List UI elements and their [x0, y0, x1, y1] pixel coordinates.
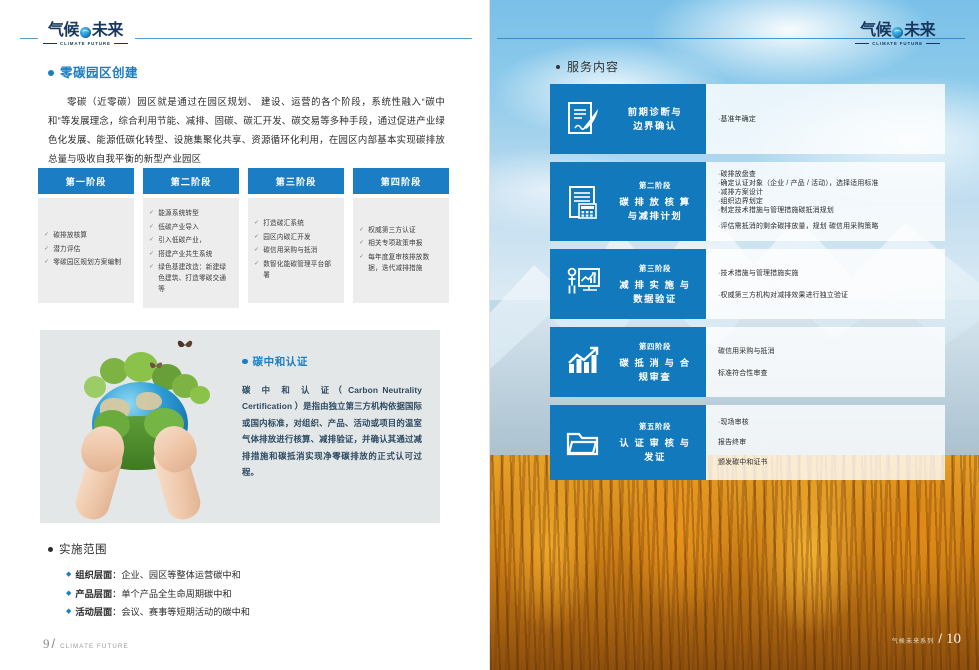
stage-item-text: 碳信用采购与抵消	[263, 245, 337, 256]
service-step-detail: 报告终审	[718, 436, 933, 449]
stage-item-text: 低碳产业导入	[158, 222, 232, 233]
scope-item-text: ：单个产品全生命周期碳中和	[112, 589, 231, 599]
service-step-3-labels: 第三阶段 减 排 实 施 与 数据验证	[614, 263, 696, 306]
stage-item: ✓潜力评估	[44, 244, 127, 255]
folder-icon	[560, 428, 606, 458]
scope-item-label: 产品层面	[75, 589, 112, 599]
stage-item-text: 搭建产业共生系统	[158, 249, 232, 260]
stage-body-3: ✓打造碳汇系统 ✓园区内碳汇开发 ✓碳信用采购与抵消 ✓数智化能碳管理平台部署	[248, 198, 344, 303]
service-step-5-details: ·现场审核 报告终审 颁发碳中和证书	[706, 405, 945, 480]
service-step-detail: ·组织边界划定	[718, 197, 933, 206]
footer-slash: /	[938, 631, 942, 646]
brand-logo: 气候 未来 CLIMATE FUTURE	[38, 22, 135, 46]
list-item: ◆产品层面：单个产品全生命周期碳中和	[66, 585, 436, 604]
stage-item: ✓能源系统转型	[149, 208, 232, 219]
butterfly-icon	[148, 360, 164, 372]
stage-item-text: 能源系统转型	[158, 208, 232, 219]
section-title-zero-carbon-park: 零碳园区创建	[48, 62, 138, 81]
service-step-5-stage: 第五阶段	[614, 421, 696, 432]
stage-column-3: 第三阶段 ✓打造碳汇系统 ✓园区内碳汇开发 ✓碳信用采购与抵消 ✓数智化能碳管理…	[248, 168, 344, 308]
stage-column-1: 第一阶段 ✓碳排放核算 ✓潜力评估 ✓零碳园区规划方案编制	[38, 168, 134, 308]
stage-header-1: 第一阶段	[38, 168, 134, 194]
service-step-4-name-line1: 碳 抵 消 与 合	[614, 356, 696, 370]
brochure-spread: 气候 未来 CLIMATE FUTURE 零碳园区创建 零碳（近零碳）园区就是通…	[0, 0, 979, 670]
stage-item: ✓搭建产业共生系统	[149, 249, 232, 260]
stage-item: ✓园区内碳汇开发	[254, 232, 337, 243]
illustration	[40, 330, 236, 523]
brand-logo-cn-2: 未来	[92, 22, 123, 40]
check-icon: ✓	[254, 259, 259, 281]
brand-logo-en: CLIMATE FUTURE	[60, 41, 111, 46]
left-page: 气候 未来 CLIMATE FUTURE 零碳园区创建 零碳（近零碳）园区就是通…	[0, 0, 490, 670]
stage-header-3: 第三阶段	[248, 168, 344, 194]
check-icon: ✓	[44, 257, 49, 268]
stage-item-text: 数智化能碳管理平台部署	[263, 259, 337, 281]
bullet-dot-icon	[556, 65, 560, 69]
service-step-2-stage: 第二阶段	[614, 180, 696, 191]
service-step-4: 第四阶段 碳 抵 消 与 合 规审查 碳信用采购与抵消 标准符合性审查	[550, 327, 945, 397]
stage-item-text: 碳排放核算	[53, 230, 127, 241]
service-step-1-details: ·基准年确定	[706, 84, 945, 154]
section-title-scope: 实施范围	[48, 541, 107, 557]
service-step-detail: 标准符合性审查	[718, 367, 933, 380]
service-step-5-labels: 第五阶段 认 证 审 核 与 发证	[614, 421, 696, 464]
right-header-logo: 气候 未来 CLIMATE FUTURE	[497, 22, 965, 56]
stage-item-text: 相关专项政策申报	[368, 238, 442, 249]
brand-logo-sub: CLIMATE FUTURE	[43, 41, 128, 46]
stage-item: ✓绿色基建改造：新建绿色建筑、打造零碳交通等	[149, 262, 232, 295]
scope-item-label: 组织层面	[75, 570, 112, 580]
list-item: ◆活动层面：会议、赛事等短期活动的碳中和	[66, 603, 436, 622]
service-step-detail: 碳信用采购与抵消	[718, 345, 933, 358]
service-step-5: 第五阶段 认 证 审 核 与 发证 ·现场审核 报告终审 颁发碳中和证书	[550, 405, 945, 480]
section-title-text: 零碳园区创建	[60, 66, 138, 80]
earth-in-hands-image	[40, 330, 236, 523]
service-step-detail: ·减排方案设计	[718, 188, 933, 197]
carbon-neutrality-panel: 碳中和认证 碳 中 和 认 证（ Carbon Neutrality Certi…	[40, 330, 440, 523]
brand-logo-sub: CLIMATE FUTURE	[855, 41, 940, 46]
footer-slash: /	[52, 636, 56, 651]
growth-chart-icon	[560, 346, 606, 378]
service-step-5-name-line2: 发证	[614, 450, 696, 464]
service-title-text: 服务内容	[567, 60, 619, 74]
ledger-calculator-icon	[560, 184, 606, 220]
service-step-detail: ·碳排放盘查	[718, 170, 933, 179]
brand-logo-cn-1: 气候	[860, 22, 891, 40]
right-page-footer: 气候未来系列 / 10	[892, 631, 961, 648]
bullet-dot-icon	[48, 70, 54, 76]
service-step-2-name-line1: 碳 排 放 核 算	[614, 195, 696, 209]
check-icon: ✓	[359, 225, 364, 236]
brand-logo-cn-1: 气候	[48, 22, 79, 40]
check-icon: ✓	[44, 230, 49, 241]
stage-column-2: 第二阶段 ✓能源系统转型 ✓低碳产业导入 ✓引入低碳产业， ✓搭建产业共生系统 …	[143, 168, 239, 308]
logo-dash-right	[926, 43, 940, 44]
service-step-2-name-line2: 与减排计划	[614, 209, 696, 223]
section-title-service-content: 服务内容	[556, 58, 619, 75]
stage-item: ✓零碳园区规划方案编制	[44, 257, 127, 268]
scope-item-text: ：企业、园区等整体运营碳中和	[112, 570, 241, 580]
service-step-2-detail-group: ·碳排放盘查 ·确定认证对象（企业 / 产品 / 活动），选择适用标准 ·减排方…	[718, 170, 933, 233]
stage-columns: 第一阶段 ✓碳排放核算 ✓潜力评估 ✓零碳园区规划方案编制 第二阶段 ✓能源系统…	[38, 168, 458, 308]
stage-item: ✓权威第三方认证	[359, 225, 442, 236]
service-step-detail: ·制定技术措施与管理措施碳抵消规划	[718, 206, 933, 215]
stage-body-4: ✓权威第三方认证 ✓相关专项政策申报 ✓每年度复审核排放数据，迭代减排措施	[353, 198, 449, 303]
stage-header-4: 第四阶段	[353, 168, 449, 194]
globe-icon	[80, 27, 91, 38]
service-step-1-name-line1: 前期诊断与	[614, 105, 696, 119]
stage-item: ✓相关专项政策申报	[359, 238, 442, 249]
service-step-2-header: 第二阶段 碳 排 放 核 算 与减排计划	[550, 162, 706, 241]
list-item: ◆组织层面：企业、园区等整体运营碳中和	[66, 566, 436, 585]
foliage-leaf	[190, 386, 210, 404]
service-step-3-name-line1: 减 排 实 施 与	[614, 278, 696, 292]
service-step-5-header: 第五阶段 认 证 审 核 与 发证	[550, 405, 706, 480]
stage-body-2: ✓能源系统转型 ✓低碳产业导入 ✓引入低碳产业， ✓搭建产业共生系统 ✓绿色基建…	[143, 198, 239, 308]
footer-brand: CLIMATE FUTURE	[60, 643, 129, 650]
bullet-dot-icon	[48, 547, 53, 552]
service-step-2-details: ·碳排放盘查 ·确定认证对象（企业 / 产品 / 活动），选择适用标准 ·减排方…	[706, 162, 945, 241]
brand-logo-en: CLIMATE FUTURE	[872, 41, 923, 46]
stage-item: ✓每年度复审核排放数据，迭代减排措施	[359, 252, 442, 274]
service-steps-list: 前期诊断与 边界确认 ·基准年确定	[550, 84, 945, 488]
zero-carbon-paragraph: 零碳（近零碳）园区就是通过在园区规划、 建设、运营的各个阶段，系统性融入“碳中和…	[48, 92, 445, 168]
check-icon: ✓	[254, 218, 259, 229]
brand-logo: 气候 未来 CLIMATE FUTURE	[848, 22, 947, 46]
stage-item-text: 引入低碳产业，	[158, 235, 232, 246]
service-step-detail: ·基准年确定	[718, 113, 933, 126]
check-icon: ✓	[149, 208, 154, 219]
page-number: 10	[946, 631, 961, 648]
service-step-3-header: 第三阶段 减 排 实 施 与 数据验证	[550, 249, 706, 319]
check-icon: ✓	[44, 244, 49, 255]
service-step-4-stage: 第四阶段	[614, 341, 696, 352]
stage-item: ✓低碳产业导入	[149, 222, 232, 233]
logo-dash-left	[43, 43, 57, 44]
logo-dash-right	[114, 43, 128, 44]
service-step-detail: ·现场审核	[718, 416, 933, 429]
stage-item: ✓打造碳汇系统	[254, 218, 337, 229]
service-step-detail: ·权威第三方机构对减排效果进行独立验证	[718, 289, 933, 302]
bullet-dot-icon	[242, 359, 248, 365]
stage-item-text: 潜力评估	[53, 244, 127, 255]
square-bullet-icon: ◆	[66, 585, 71, 604]
stage-item-text: 零碳园区规划方案编制	[53, 257, 127, 268]
service-step-5-name-line1: 认 证 审 核 与	[614, 436, 696, 450]
logo-dash-left	[855, 43, 869, 44]
service-step-1-labels: 前期诊断与 边界确认	[614, 105, 696, 133]
stage-item: ✓碳排放核算	[44, 230, 127, 241]
left-page-footer: 9 / CLIMATE FUTURE	[43, 636, 129, 652]
brand-logo-main: 气候 未来	[860, 22, 935, 40]
service-step-4-labels: 第四阶段 碳 抵 消 与 合 规审查	[614, 341, 696, 384]
service-step-3-details: ·技术措施与管理措施实施 ·权威第三方机构对减排效果进行独立验证	[706, 249, 945, 319]
stage-item-text: 园区内碳汇开发	[263, 232, 337, 243]
brand-logo-cn-2: 未来	[904, 22, 935, 40]
brand-logo-main: 气候 未来	[48, 22, 123, 40]
page-number: 9	[43, 636, 50, 652]
left-header-logo: 气候 未来 CLIMATE FUTURE	[20, 22, 472, 56]
square-bullet-icon: ◆	[66, 603, 71, 622]
stage-body-1: ✓碳排放核算 ✓潜力评估 ✓零碳园区规划方案编制	[38, 198, 134, 303]
service-step-1: 前期诊断与 边界确认 ·基准年确定	[550, 84, 945, 154]
cert-body-text: （ Carbon Neutrality Certification ）是指由独立…	[242, 385, 422, 477]
scope-item-label: 活动层面	[75, 607, 112, 617]
stage-header-2: 第二阶段	[143, 168, 239, 194]
service-step-1-name-line2: 边界确认	[614, 119, 696, 133]
service-step-3: 第三阶段 减 排 实 施 与 数据验证 ·技术措施与管理措施实施 ·权威第三方机…	[550, 249, 945, 319]
scope-list: ◆组织层面：企业、园区等整体运营碳中和 ◆产品层面：单个产品全生命周期碳中和 ◆…	[66, 566, 436, 622]
check-icon: ✓	[359, 252, 364, 274]
scope-title-text: 实施范围	[59, 544, 107, 556]
stage-item-text: 权威第三方认证	[368, 225, 442, 236]
foliage-leaf	[84, 376, 106, 398]
right-page: 气候 未来 CLIMATE FUTURE 服务内容	[490, 0, 979, 670]
service-step-detail: ·评估需抵消的剩余碳排放量，规划 碳信用采购策略	[718, 220, 933, 233]
scope-item-text: ：会议、赛事等短期活动的碳中和	[112, 607, 250, 617]
stage-item: ✓碳信用采购与抵消	[254, 245, 337, 256]
service-step-4-details: 碳信用采购与抵消 标准符合性审查	[706, 327, 945, 397]
cert-title-text: 碳中和认证	[253, 356, 309, 368]
service-step-3-name-line2: 数据验证	[614, 292, 696, 306]
service-step-detail: 颁发碳中和证书	[718, 456, 933, 469]
service-step-2: 第二阶段 碳 排 放 核 算 与减排计划 ·碳排放盘查 ·确定认证对象（企业 /…	[550, 162, 945, 241]
presenter-chart-icon	[560, 267, 606, 301]
service-step-detail: ·确定认证对象（企业 / 产品 / 活动），选择适用标准	[718, 179, 933, 188]
stage-column-4: 第四阶段 ✓权威第三方认证 ✓相关专项政策申报 ✓每年度复审核排放数据，迭代减排…	[353, 168, 449, 308]
cert-lead: 碳 中 和 认 证	[242, 385, 333, 395]
check-icon: ✓	[149, 262, 154, 295]
cert-text-column: 碳中和认证 碳 中 和 认 证（ Carbon Neutrality Certi…	[236, 330, 440, 523]
service-step-4-header: 第四阶段 碳 抵 消 与 合 规审查	[550, 327, 706, 397]
cert-body: 碳 中 和 认 证（ Carbon Neutrality Certificati…	[242, 382, 422, 480]
service-step-detail: ·技术措施与管理措施实施	[718, 267, 933, 280]
stage-item: ✓引入低碳产业，	[149, 235, 232, 246]
butterfly-icon	[176, 338, 194, 352]
stage-item: ✓数智化能碳管理平台部署	[254, 259, 337, 281]
service-step-2-labels: 第二阶段 碳 排 放 核 算 与减排计划	[614, 180, 696, 223]
square-bullet-icon: ◆	[66, 566, 71, 585]
stage-item-text: 绿色基建改造：新建绿色建筑、打造零碳交通等	[158, 262, 232, 295]
check-icon: ✓	[254, 245, 259, 256]
check-icon: ✓	[149, 222, 154, 233]
check-icon: ✓	[149, 235, 154, 246]
service-step-1-header: 前期诊断与 边界确认	[550, 84, 706, 154]
globe-icon	[892, 27, 903, 38]
document-quill-icon	[560, 101, 606, 137]
footer-brand: 气候未来系列	[892, 636, 935, 645]
service-step-3-stage: 第三阶段	[614, 263, 696, 274]
check-icon: ✓	[149, 249, 154, 260]
stage-item-text: 打造碳汇系统	[263, 218, 337, 229]
service-step-4-name-line2: 规审查	[614, 370, 696, 384]
check-icon: ✓	[359, 238, 364, 249]
stage-item-text: 每年度复审核排放数据，迭代减排措施	[368, 252, 442, 274]
cert-title: 碳中和认证	[242, 354, 422, 369]
check-icon: ✓	[254, 232, 259, 243]
